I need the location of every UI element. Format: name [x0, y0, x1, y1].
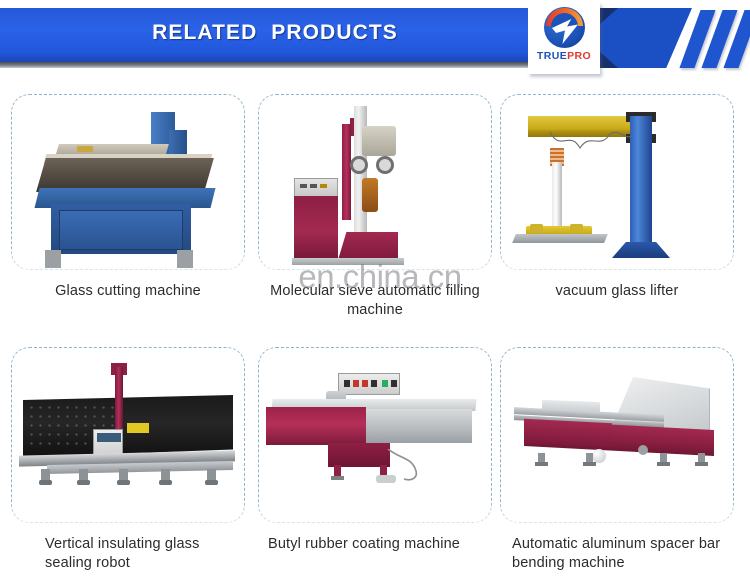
truepro-logo: TRUEPRO: [528, 2, 600, 74]
logo-circle-icon: [544, 7, 585, 48]
logo-wordmark: TRUEPRO: [528, 50, 600, 62]
product-grid: Glass cutting machine: [0, 80, 750, 586]
vacuum-glass-lifter-image: [508, 100, 726, 268]
header: RELATED PRODUCTS TRUEPRO: [0, 0, 750, 80]
page-title: RELATED PRODUCTS: [110, 21, 440, 45]
product-card-molecular-sieve-filling-machine[interactable]: Molecular sieve automatic filling machin…: [258, 80, 492, 333]
related-products-banner: RELATED PRODUCTS TRUEPRO: [0, 0, 750, 586]
logo-wordmark-primary: TRUE: [537, 50, 567, 62]
product-row: Vertical insulating glass sealing robot: [0, 333, 750, 586]
product-card-automatic-aluminum-spacer-bar-bending-machine[interactable]: Automatic aluminum spacer bar bending ma…: [500, 333, 734, 586]
product-card-glass-cutting-machine[interactable]: Glass cutting machine: [11, 80, 245, 333]
product-label: Molecular sieve automatic filling machin…: [258, 282, 492, 320]
butyl-rubber-coating-machine-image: [266, 353, 484, 521]
automatic-aluminum-spacer-bar-bending-machine-image: [508, 353, 726, 521]
product-card-butyl-rubber-coating-machine[interactable]: Butyl rubber coating machine: [258, 333, 492, 586]
product-label: Butyl rubber coating machine: [258, 535, 492, 554]
product-label: Glass cutting machine: [11, 282, 245, 301]
product-label: vacuum glass lifter: [500, 282, 734, 301]
product-row: Glass cutting machine: [0, 80, 750, 333]
glass-cutting-machine-image: [19, 100, 237, 268]
product-label: Automatic aluminum spacer bar bending ma…: [500, 535, 734, 573]
vertical-insulating-glass-sealing-robot-image: [19, 353, 237, 521]
product-card-vacuum-glass-lifter[interactable]: vacuum glass lifter: [500, 80, 734, 333]
molecular-sieve-filling-machine-image: [266, 100, 484, 268]
header-wing-shape: [600, 8, 692, 68]
logo-wordmark-accent: PRO: [567, 50, 591, 62]
product-card-vertical-insulating-glass-sealing-robot[interactable]: Vertical insulating glass sealing robot: [11, 333, 245, 586]
product-label: Vertical insulating glass sealing robot: [11, 535, 245, 573]
